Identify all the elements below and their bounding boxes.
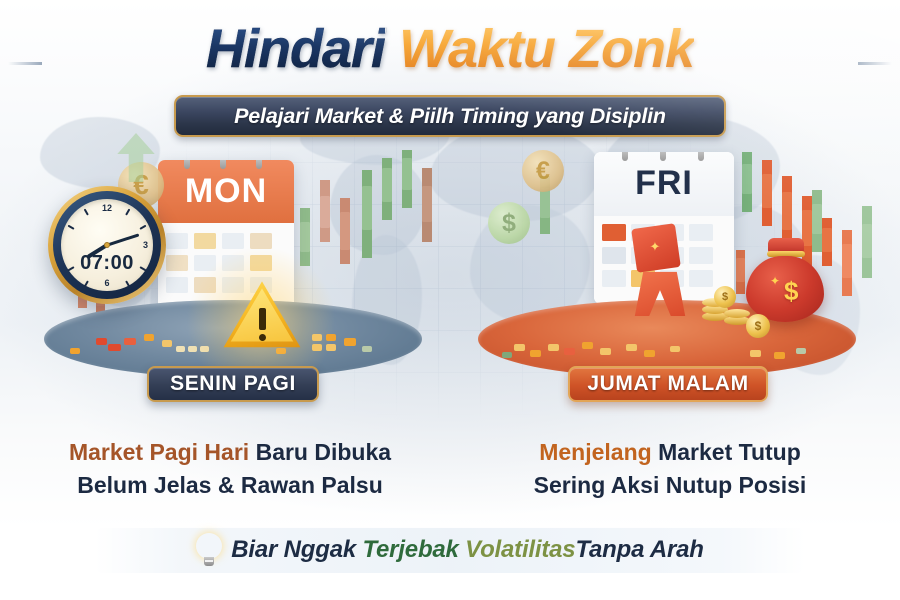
clock-num-3: 3 [143, 240, 148, 250]
footer-banner: Biar Nggak Terjebak VolatilitasTanpa Ara… [95, 527, 805, 573]
title-part-waktu-zonk: Waktu Zonk [399, 19, 694, 79]
footer-part-4: Tanpa Arah [575, 536, 703, 563]
label-senin-pagi: SENIN PAGI [147, 366, 319, 402]
clock-digital-time: 07:00 [61, 252, 153, 275]
label-jumat-malam: JUMAT MALAM [568, 366, 768, 402]
clock-num-12: 12 [102, 203, 112, 213]
footer-text: Biar Nggak Terjebak VolatilitasTanpa Ara… [231, 536, 703, 564]
clock-pivot [104, 242, 110, 248]
panel-friday-night: FRI € $ [452, 140, 882, 400]
description-left-line1: Market Pagi Hari Baru Dibuka [10, 436, 450, 469]
normal-text: Baru Dibuka [256, 439, 391, 465]
gold-coin-pile: $ $ [702, 290, 780, 332]
description-right: Menjelang Market Tutup Sering Aksi Nutup… [450, 436, 890, 501]
page-title: Hindari Waktu Zonk [0, 22, 900, 76]
label-text: JUMAT MALAM [587, 372, 748, 396]
highlight-text: Menjelang [539, 439, 651, 465]
subtitle-text: Pelajari Market & Piilh Timing yang Disi… [234, 104, 666, 129]
footer-part-1: Biar Nggak [231, 536, 356, 563]
panel-monday-morning: MON € $ [18, 140, 448, 400]
footer-part-3: Volatilitas [465, 536, 575, 563]
euro-coin-icon: € [522, 150, 564, 192]
calendar-day-label: FRI [635, 164, 693, 203]
label-text: SENIN PAGI [170, 372, 296, 396]
description-right-line1: Menjelang Market Tutup [450, 436, 890, 469]
normal-text: Market Tutup [658, 439, 801, 465]
subtitle-banner: Pelajari Market & Piilh Timing yang Disi… [174, 95, 726, 137]
description-left: Market Pagi Hari Baru Dibuka Belum Jelas… [10, 436, 450, 501]
footer-part-2: Terjebak [362, 536, 458, 563]
euro-symbol: € [536, 157, 550, 186]
title-rule-left [8, 62, 42, 65]
description-right-line2: Sering Aksi Nutup Posisi [450, 469, 890, 502]
title-part-hindari: Hindari [206, 19, 385, 79]
clock-monday-0700: 12 3 6 07:00 [48, 186, 166, 304]
money-bag-dollar-symbol: $ [784, 276, 798, 306]
infographic-poster: Hindari Waktu Zonk Pelajari Market & Pii… [0, 0, 900, 600]
clock-minute-hand [107, 233, 139, 246]
title-rule-right [858, 62, 892, 65]
red-envelope-icon: ✦ [630, 260, 690, 318]
warning-triangle-icon [222, 280, 302, 350]
lightbulb-icon [196, 533, 222, 567]
dollar-symbol: $ [502, 209, 516, 238]
description-left-line2: Belum Jelas & Rawan Palsu [10, 469, 450, 502]
clock-num-6: 6 [104, 278, 109, 288]
highlight-text: Market Pagi Hari [69, 439, 249, 465]
calendar-day-label: MON [185, 172, 267, 211]
dollar-coin-icon: $ [488, 202, 530, 244]
